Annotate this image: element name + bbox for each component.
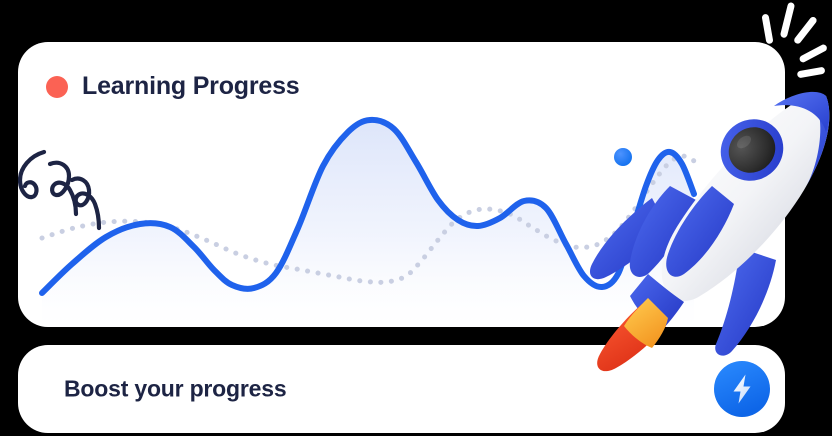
status-dot	[46, 76, 68, 98]
rocket-group	[590, 92, 829, 371]
card-header: Learning Progress	[46, 74, 300, 99]
boost-label: Boost your progress	[64, 376, 286, 403]
page-title: Learning Progress	[82, 74, 300, 99]
rocket-illustration	[588, 58, 832, 370]
sparkle-lines-icon	[750, 0, 832, 84]
screenshot-root: Learning Progress Boost your progress	[0, 0, 832, 436]
squiggle-doodle-icon	[18, 150, 110, 230]
